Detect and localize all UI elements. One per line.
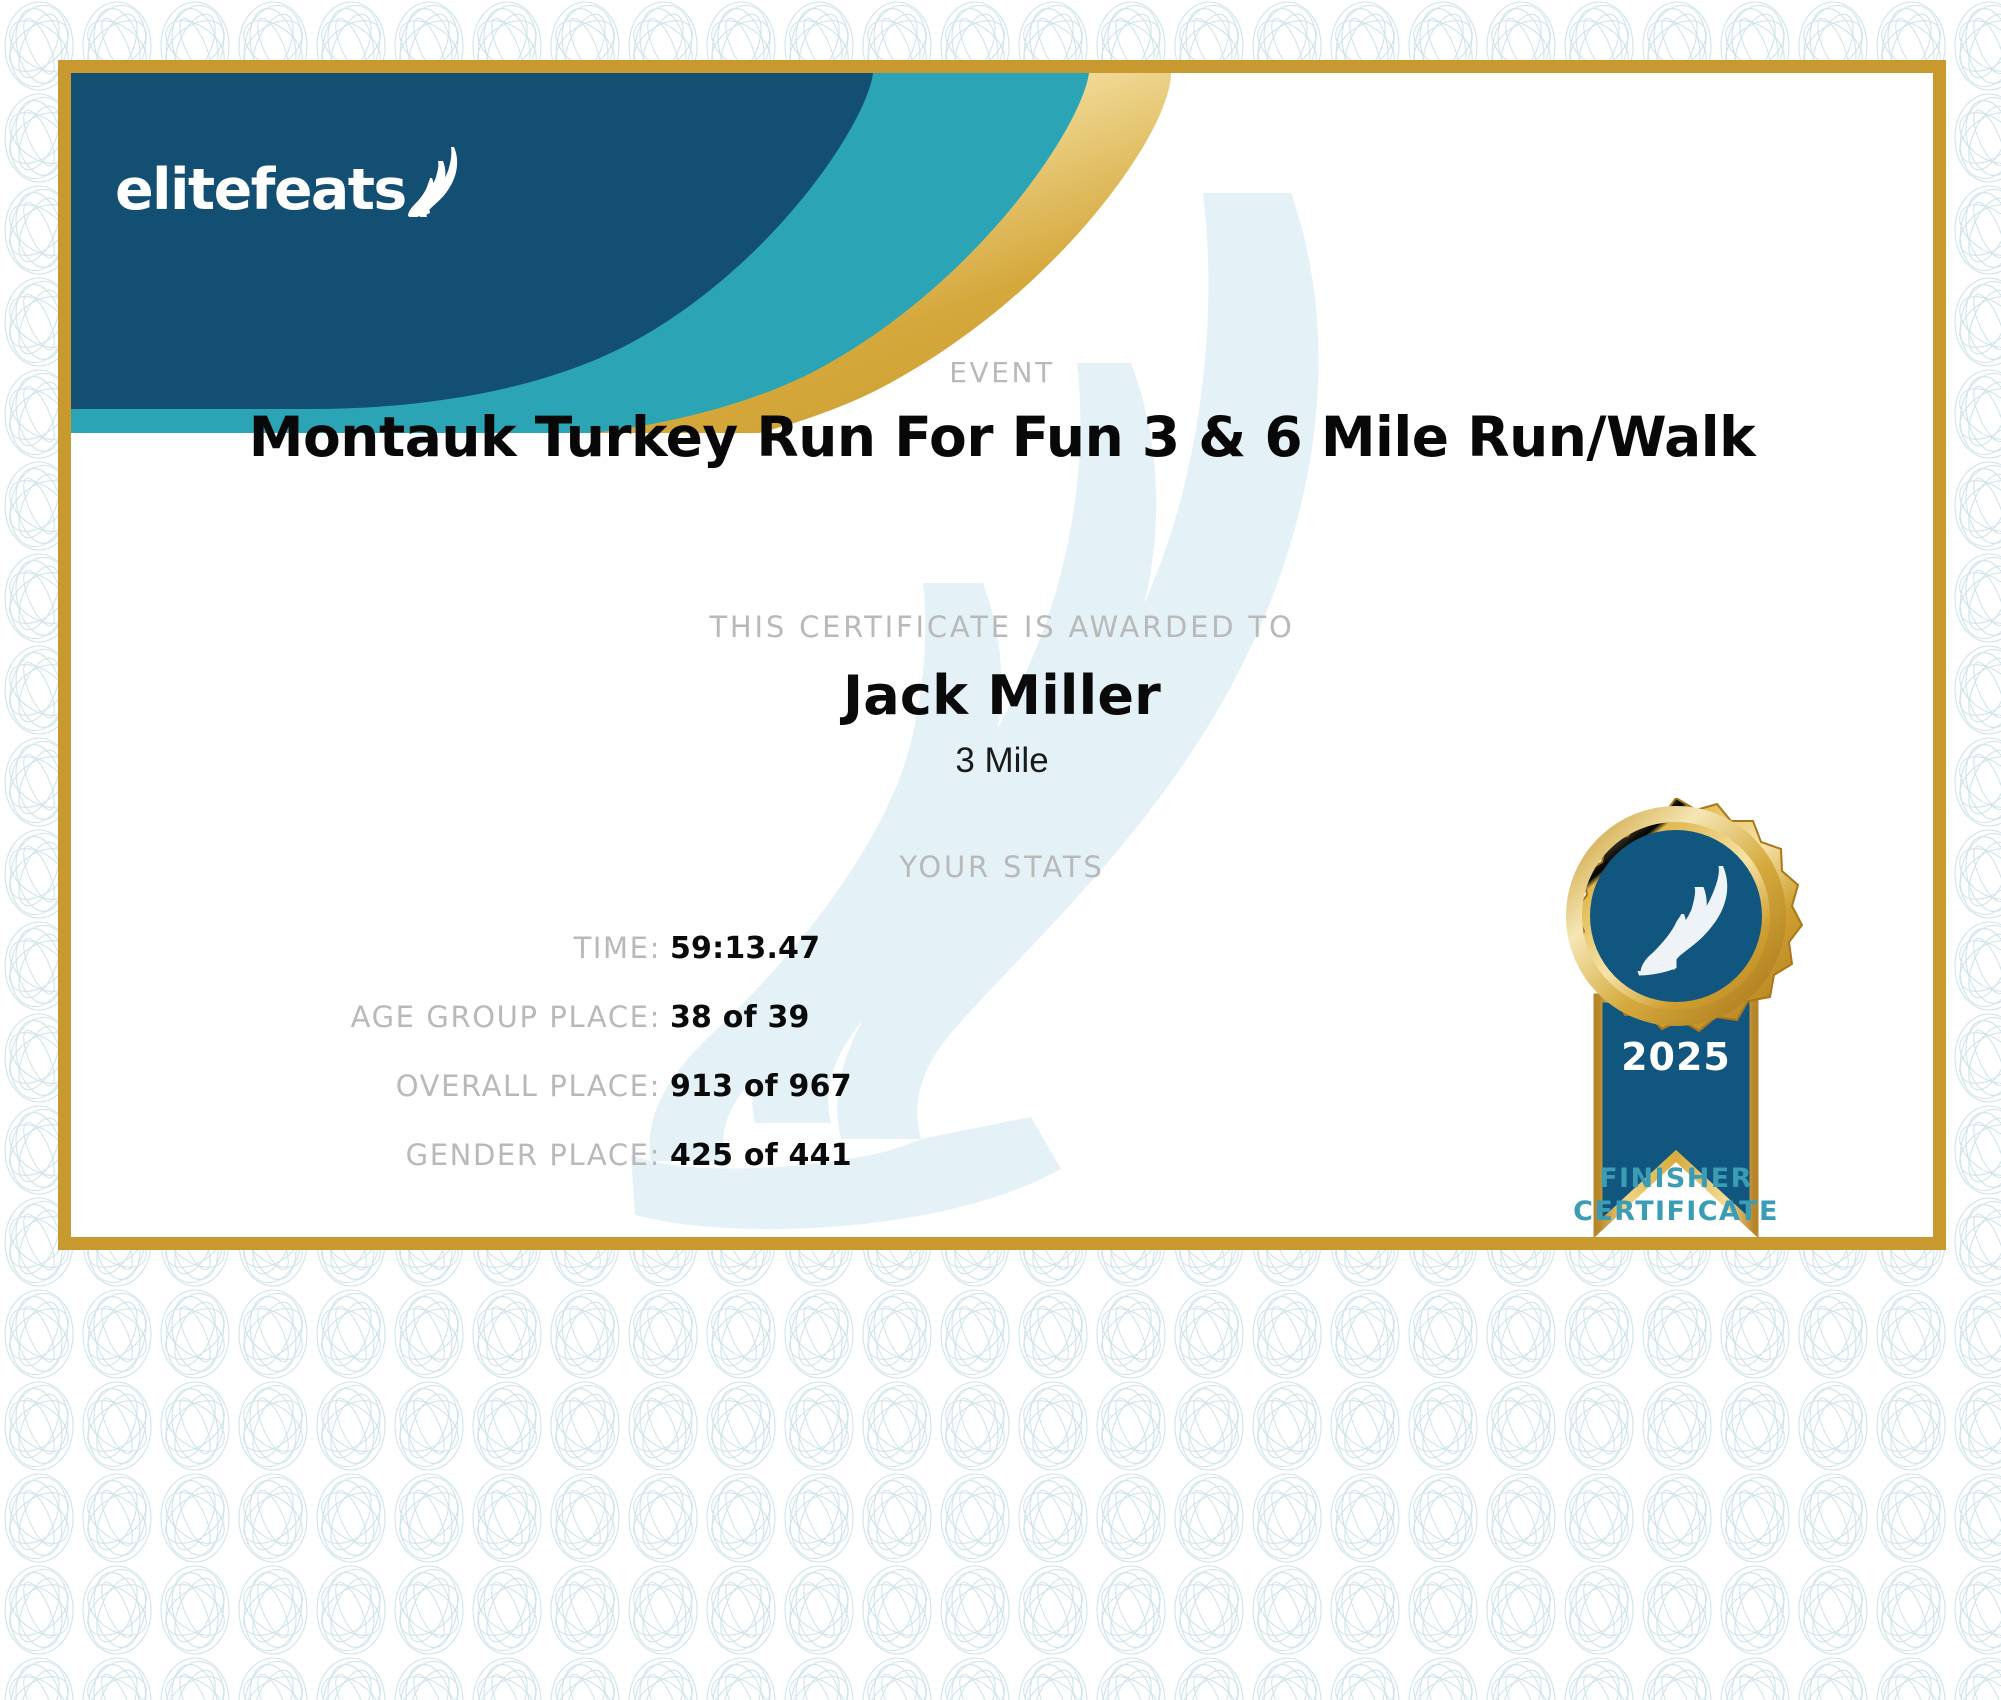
awarded-to-label: THIS CERTIFICATE IS AWARDED TO: [71, 610, 1933, 644]
certificate-canvas: elitefeats EVENT Montauk Turkey Run For …: [71, 73, 1933, 1237]
certificate-page: elitefeats EVENT Montauk Turkey Run For …: [0, 0, 2001, 1700]
event-label: EVENT: [71, 356, 1933, 389]
table-row: OVERALL PLACE: 913 of 967: [71, 1069, 1011, 1138]
gold-frame: elitefeats EVENT Montauk Turkey Run For …: [58, 60, 1946, 1250]
stat-label-age-group-place: AGE GROUP PLACE:: [71, 1000, 670, 1069]
stat-value-overall-place: 913 of 967: [670, 1069, 1011, 1138]
stat-label-gender-place: GENDER PLACE:: [71, 1138, 670, 1207]
recipient-name: Jack Miller: [71, 664, 1933, 727]
brand-wordmark: elitefeats: [115, 162, 406, 219]
stat-value-age-group-place: 38 of 39: [670, 1000, 1011, 1069]
stat-label-time: TIME:: [71, 931, 670, 1000]
distance-subtitle: 3 Mile: [71, 741, 1933, 781]
badge-caption-line2: CERTIFICATE: [1511, 1196, 1841, 1229]
badge-caption-line1: FINISHER: [1511, 1163, 1841, 1196]
event-title: Montauk Turkey Run For Fun 3 & 6 Mile Ru…: [71, 405, 1933, 469]
table-row: GENDER PLACE: 425 of 441: [71, 1138, 1011, 1207]
stat-label-overall-place: OVERALL PLACE:: [71, 1069, 670, 1138]
table-row: AGE GROUP PLACE: 38 of 39: [71, 1000, 1011, 1069]
stat-value-gender-place: 425 of 441: [670, 1138, 1011, 1207]
winged-foot-icon: [408, 145, 470, 217]
badge-year: 2025: [1621, 1035, 1731, 1079]
table-row: TIME: 59:13.47: [71, 931, 1011, 1000]
badge-caption: FINISHER CERTIFICATE: [1511, 1163, 1841, 1229]
stats-table: TIME: 59:13.47 AGE GROUP PLACE: 38 of 39…: [71, 931, 1011, 1207]
brand-logo: elitefeats: [115, 145, 470, 219]
stat-value-time: 59:13.47: [670, 931, 1011, 1000]
